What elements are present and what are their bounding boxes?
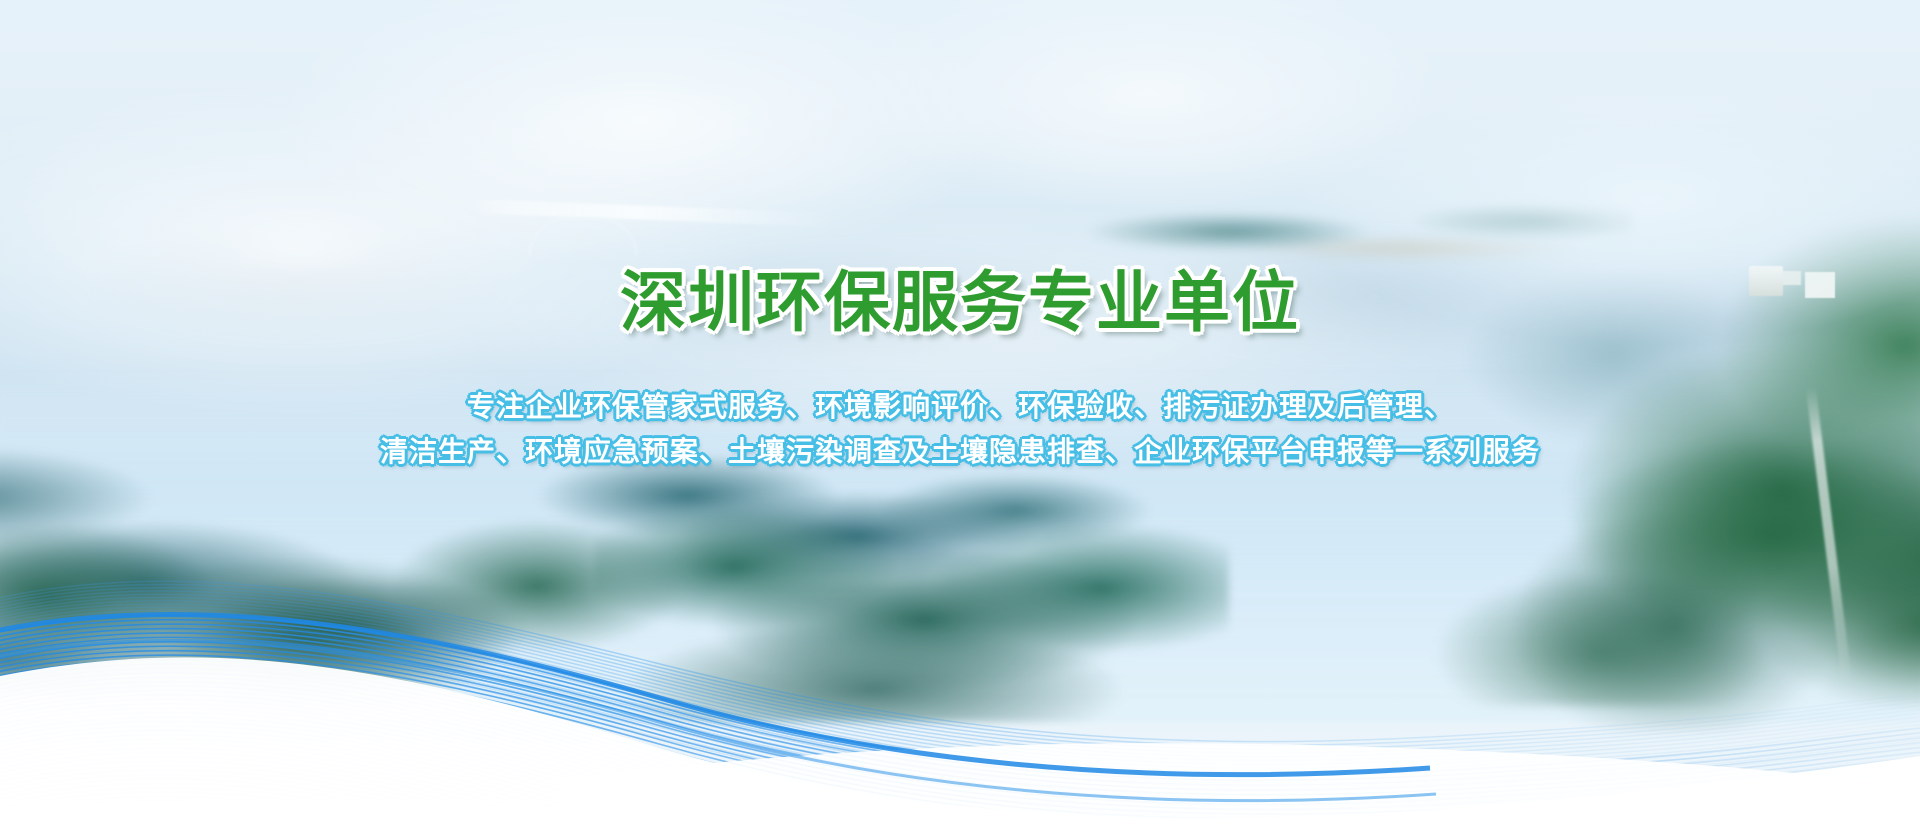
hero-banner: 深圳环保服务专业单位 专注企业环保管家式服务、环境影响评价、环保验收、排污证办理… bbox=[0, 0, 1920, 840]
banner-subtitle-line-2: 清洁生产、环境应急预案、土壤污染调查及土壤隐患排查、企业环保平台申报等一系列服务 bbox=[0, 429, 1920, 474]
banner-copy: 深圳环保服务专业单位 专注企业环保管家式服务、环境影响评价、环保验收、排污证办理… bbox=[0, 268, 1920, 475]
banner-subtitle-line-1: 专注企业环保管家式服务、环境影响评价、环保验收、排污证办理及后管理、 bbox=[0, 384, 1920, 429]
foreground-islets bbox=[0, 470, 691, 722]
banner-subtitle: 专注企业环保管家式服务、环境影响评价、环保验收、排污证办理及后管理、 清洁生产、… bbox=[0, 384, 1920, 475]
banner-headline: 深圳环保服务专业单位 bbox=[0, 268, 1920, 338]
